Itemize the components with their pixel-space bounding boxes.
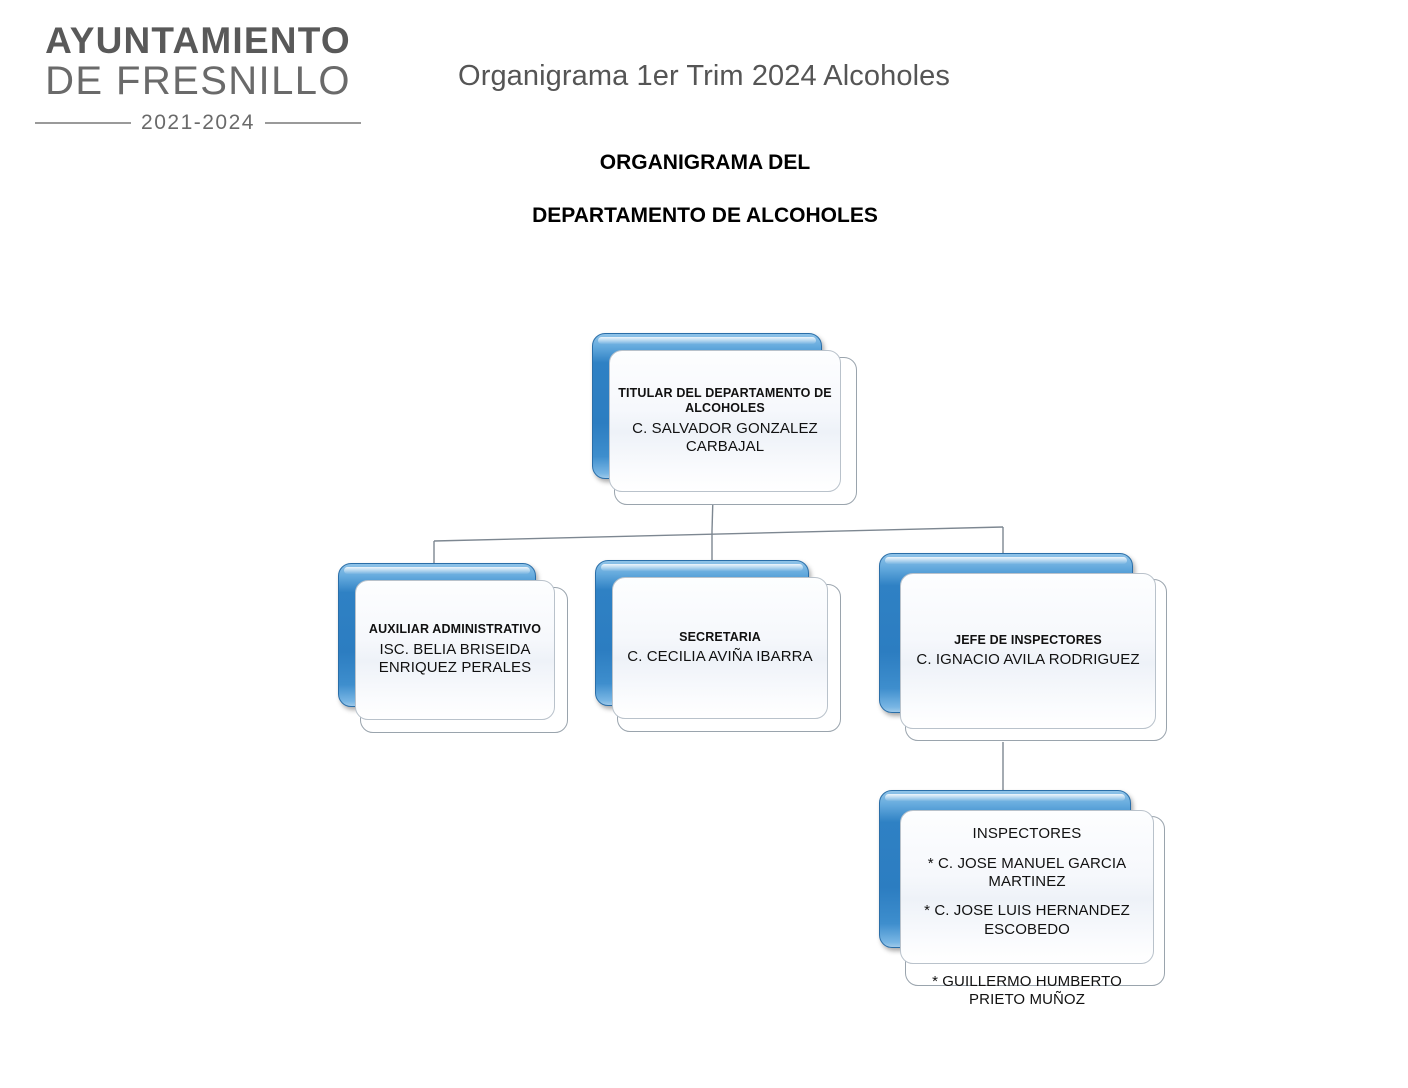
org-node-inspector-1: * C. JOSE MANUEL GARCIA MARTINEZ bbox=[909, 855, 1145, 892]
org-node-role: SECRETARIA bbox=[679, 630, 761, 646]
org-node-inspector-2: * C. JOSE LUIS HERNANDEZ ESCOBEDO bbox=[909, 902, 1145, 939]
org-node-auxiliar-administrativo[interactable]: AUXILIAR ADMINISTRATIVO ISC. BELIA BRISE… bbox=[338, 563, 568, 733]
org-chart-connectors bbox=[0, 0, 1408, 1088]
org-node-person: ISC. BELIA BRISEIDA ENRIQUEZ PERALES bbox=[364, 641, 546, 678]
org-node-titular[interactable]: TITULAR DEL DEPARTAMENTO DE ALCOHOLES C.… bbox=[592, 333, 857, 505]
org-node-content-card: SECRETARIA C. CECILIA AVIÑA IBARRA bbox=[612, 577, 828, 719]
org-node-role: AUXILIAR ADMINISTRATIVO bbox=[369, 622, 541, 638]
org-node-person: C. CECILIA AVIÑA IBARRA bbox=[627, 648, 812, 666]
org-node-content-card: INSPECTORES * C. JOSE MANUEL GARCIA MART… bbox=[900, 810, 1154, 964]
org-node-role: INSPECTORES bbox=[973, 825, 1082, 844]
org-node-person: C. IGNACIO AVILA RODRIGUEZ bbox=[916, 651, 1139, 669]
org-node-inspector-3: * GUILLERMO HUMBERTO PRIETO MUÑOZ bbox=[909, 973, 1145, 1010]
org-node-content-card: TITULAR DEL DEPARTAMENTO DE ALCOHOLES C.… bbox=[609, 350, 841, 492]
org-node-role: JEFE DE INSPECTORES bbox=[954, 633, 1102, 649]
org-node-secretaria[interactable]: SECRETARIA C. CECILIA AVIÑA IBARRA bbox=[595, 560, 845, 732]
org-node-jefe-de-inspectores[interactable]: JEFE DE INSPECTORES C. IGNACIO AVILA ROD… bbox=[879, 553, 1169, 743]
org-chart: TITULAR DEL DEPARTAMENTO DE ALCOHOLES C.… bbox=[0, 0, 1408, 1088]
org-node-person: C. SALVADOR GONZALEZ CARBAJAL bbox=[618, 420, 832, 457]
org-node-content-card: AUXILIAR ADMINISTRATIVO ISC. BELIA BRISE… bbox=[355, 580, 555, 720]
org-node-inspectores[interactable]: INSPECTORES * C. JOSE MANUEL GARCIA MART… bbox=[879, 790, 1171, 990]
org-node-content-card: JEFE DE INSPECTORES C. IGNACIO AVILA ROD… bbox=[900, 573, 1156, 729]
org-node-role: TITULAR DEL DEPARTAMENTO DE ALCOHOLES bbox=[618, 386, 832, 417]
